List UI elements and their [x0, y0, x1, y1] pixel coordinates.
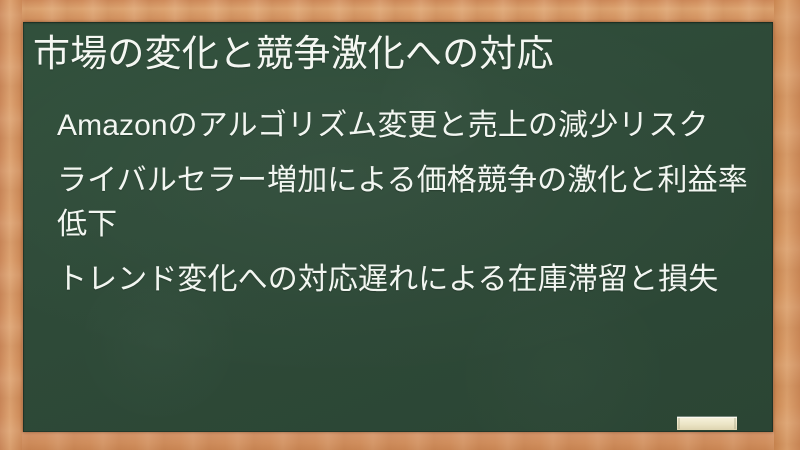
- bullet-item-2: ライバルセラー増加による価格競争の激化と利益率低下: [23, 159, 773, 247]
- frame-right-edge: [774, 0, 800, 450]
- chalkboard-surface: 市場の変化と競争激化への対応 Amazonのアルゴリズム変更と売上の減少リスク …: [23, 22, 773, 432]
- board-content: 市場の変化と競争激化への対応 Amazonのアルゴリズム変更と売上の減少リスク …: [23, 22, 773, 432]
- bullet-item-1: Amazonのアルゴリズム変更と売上の減少リスク: [23, 104, 773, 148]
- chalk-stick-icon: [677, 417, 737, 430]
- frame-left-edge: [0, 0, 22, 450]
- slide-title: 市場の変化と競争激化への対応: [33, 31, 753, 77]
- frame-top-edge: [0, 0, 800, 22]
- frame-bottom-edge: [0, 432, 800, 450]
- blackboard-slide: 市場の変化と競争激化への対応 Amazonのアルゴリズム変更と売上の減少リスク …: [0, 0, 800, 450]
- bullet-item-3: トレンド変化への対応遅れによる在庫滞留と損失: [23, 258, 773, 302]
- bullet-list: Amazonのアルゴリズム変更と売上の減少リスク ライバルセラー増加による価格競…: [23, 104, 773, 302]
